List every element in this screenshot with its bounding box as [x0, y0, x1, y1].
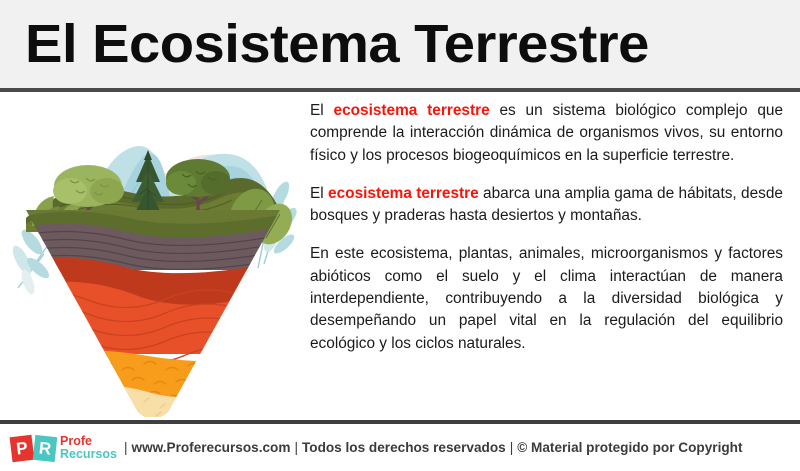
logo-word-recursos: Recursos [60, 448, 117, 462]
logo-wordmark: Profe Recursos [60, 435, 117, 462]
main-content: El ecosistema terrestre es un sistema bi… [0, 92, 800, 420]
earth-layer-cone [8, 202, 298, 417]
paragraph-2-lead: El [310, 185, 328, 202]
paragraph-1-lead: El [310, 102, 334, 119]
footer-website-link[interactable]: www.Proferecursos.com [132, 440, 291, 455]
page-title: El Ecosistema Terrestre [25, 11, 649, 77]
footer-copyright-text: © Material protegido por Copyright [517, 440, 742, 455]
title-band: El Ecosistema Terrestre [0, 0, 800, 89]
paragraph-1: El ecosistema terrestre es un sistema bi… [310, 100, 783, 167]
earth-layers-cone-illustration [8, 92, 298, 417]
paragraph-1-highlight: ecosistema terrestre [334, 102, 490, 119]
paragraph-3: En este ecosistema, plantas, animales, m… [310, 243, 783, 354]
paragraph-2-highlight: ecosistema terrestre [328, 185, 479, 202]
footer-rights-text: Todos los derechos reservados [302, 440, 506, 455]
footer-separator-1: | [120, 440, 132, 455]
footer-text-group: |www.Proferecursos.com|Todos los derecho… [120, 440, 743, 455]
footer-separator-3: | [506, 440, 518, 455]
footer-separator-2: | [290, 440, 302, 455]
proferecursos-logo[interactable]: P R Profe Recursos [10, 431, 118, 465]
footer-bar: P R Profe Recursos |www.Proferecursos.co… [0, 424, 800, 471]
logo-tile-p: P [10, 434, 35, 461]
logo-word-profe: Profe [60, 435, 117, 449]
paragraph-3-rest: En este ecosistema, plantas, animales, m… [310, 245, 783, 351]
paragraph-2: El ecosistema terrestre abarca una ampli… [310, 183, 783, 228]
article-text-column: El ecosistema terrestre es un sistema bi… [310, 100, 783, 355]
logo-tile-r: R [33, 434, 57, 461]
